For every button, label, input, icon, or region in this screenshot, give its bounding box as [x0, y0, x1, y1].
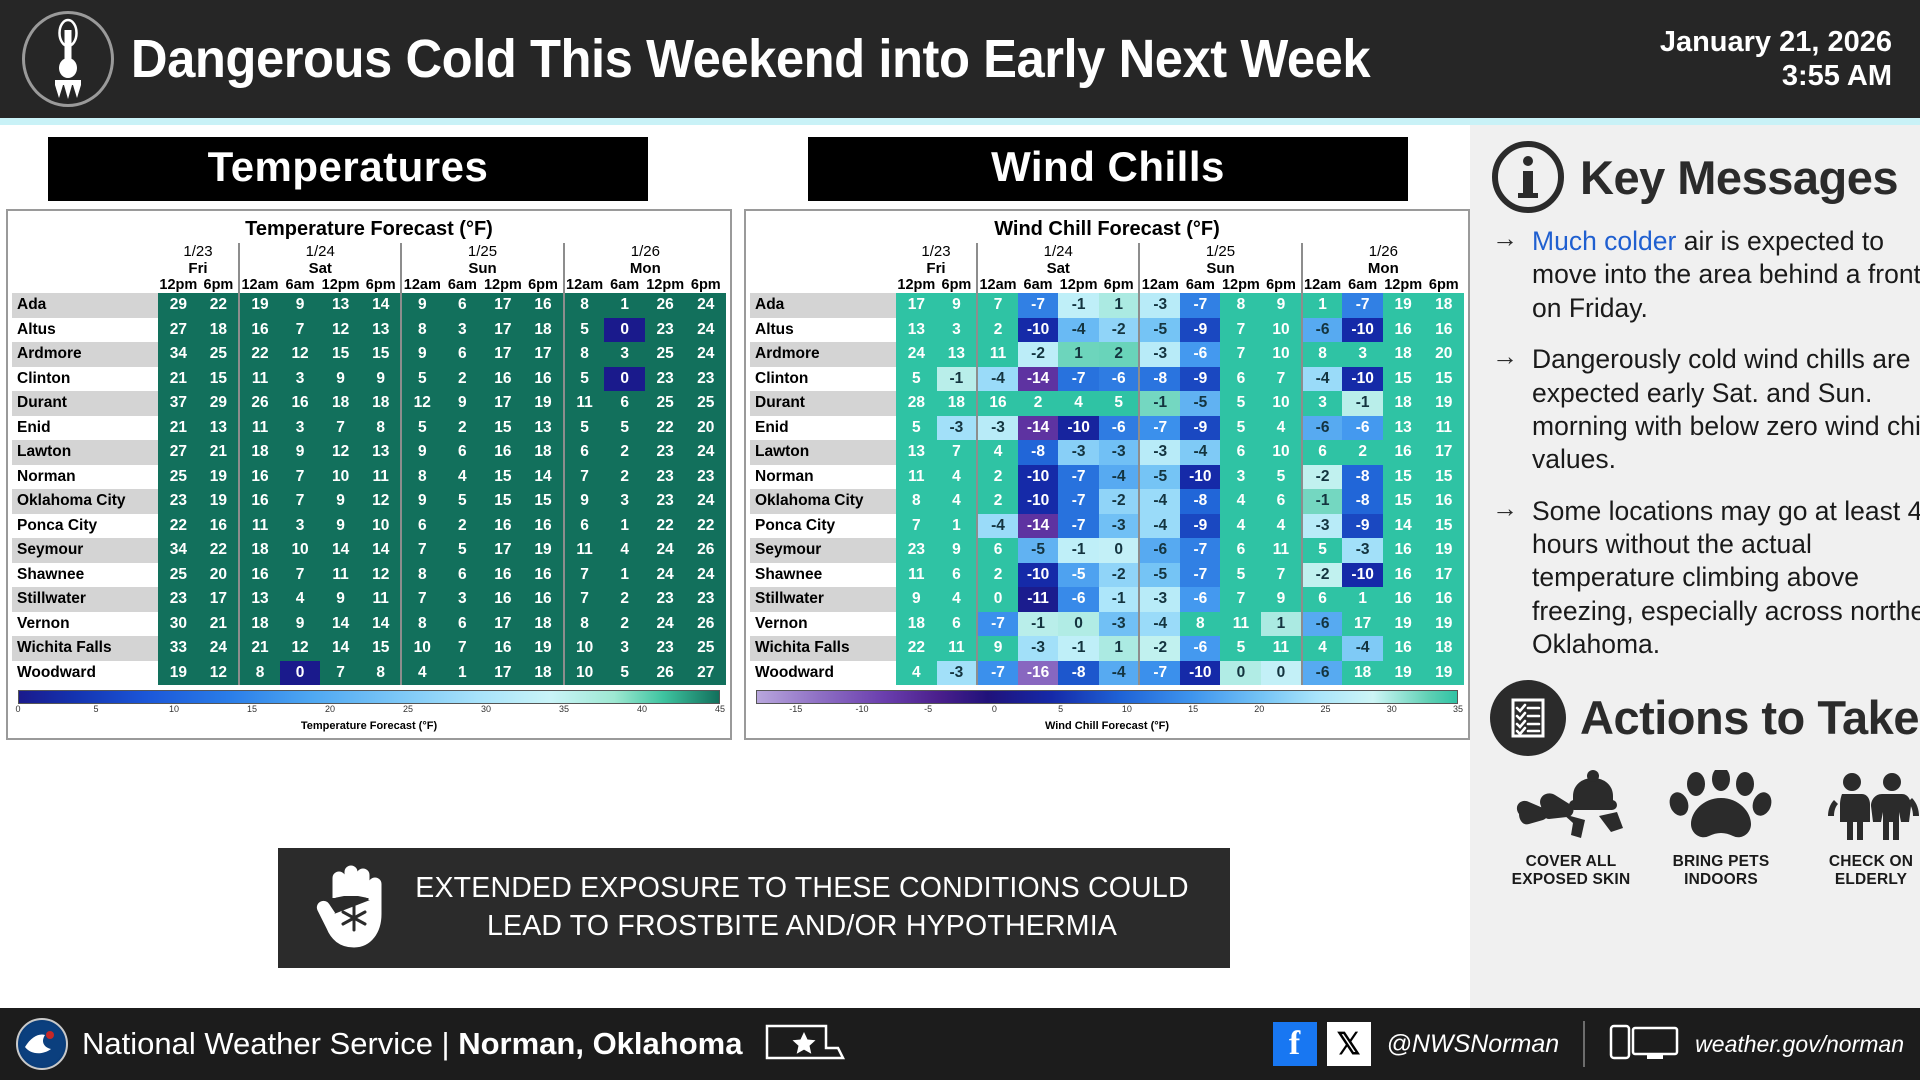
forecast-cell: 18	[361, 391, 401, 416]
forecast-cell: 24	[686, 489, 726, 514]
forecast-cell: 11	[1220, 612, 1261, 637]
callout-line-2: LEAD TO FROSTBITE AND/OR HYPOTHERMIA	[400, 908, 1204, 946]
forecast-cell: 23	[645, 440, 686, 465]
forecast-cell: -1	[1058, 538, 1099, 563]
forecast-cell: 24	[686, 293, 726, 318]
forecast-cell: 12	[280, 636, 320, 661]
forecast-cell: -5	[1058, 563, 1099, 588]
forecast-cell: 17	[1342, 612, 1382, 637]
forecast-cell: 6	[1220, 367, 1261, 392]
row-city-label: Oklahoma City	[12, 489, 158, 514]
forecast-cell: -2	[1302, 563, 1343, 588]
forecast-cell: -10	[1018, 489, 1058, 514]
header-date: January 21, 2026	[1660, 25, 1892, 59]
forecast-cell: 7	[320, 416, 361, 441]
forecast-cell: -1	[1302, 489, 1343, 514]
header-hour: 6pm	[361, 277, 401, 293]
header-hour: 6am	[1018, 277, 1058, 293]
row-city-label: Shawnee	[12, 563, 158, 588]
body-content: Temperatures Wind Chills Temperature For…	[0, 125, 1920, 1008]
forecast-cell: -2	[1099, 318, 1139, 343]
forecast-cell: 16	[1383, 318, 1424, 343]
forecast-cell: -5	[1180, 391, 1220, 416]
forecast-cell: -7	[1180, 293, 1220, 318]
row-city-label: Ponca City	[12, 514, 158, 539]
forecast-cell: 7	[1220, 318, 1261, 343]
forecast-cell: 0	[604, 318, 644, 343]
forecast-cell: 16	[239, 489, 280, 514]
forecast-cell: 19	[523, 391, 563, 416]
forecast-cell: 6	[564, 440, 605, 465]
forecast-cell: 7	[977, 293, 1018, 318]
forecast-cell: -7	[1058, 465, 1099, 490]
forecast-cell: 8	[1180, 612, 1220, 637]
forecast-cell: 7	[937, 440, 977, 465]
table-row: Shawnee25201671112861616712424	[12, 563, 726, 588]
forecast-cell: 15	[482, 489, 523, 514]
forecast-cell: 8	[361, 661, 401, 686]
forecast-cell: 25	[645, 391, 686, 416]
row-city-label: Oklahoma City	[750, 489, 896, 514]
forecast-cell: -7	[1180, 563, 1220, 588]
forecast-cell: 1	[1099, 293, 1139, 318]
forecast-cell: 1	[937, 514, 977, 539]
forecast-cell: 22	[239, 342, 280, 367]
header-hour: 12pm	[482, 277, 523, 293]
table-row: Wichita Falls22119-3-11-2-65114-41618	[750, 636, 1464, 661]
forecast-cell: 9	[937, 538, 977, 563]
forecast-cell: 19	[1383, 661, 1424, 686]
table-row: Ponca City71-4-14-7-3-4-944-3-91415	[750, 514, 1464, 539]
forecast-cell: 4	[442, 465, 482, 490]
forecast-cell: 23	[686, 367, 726, 392]
forecast-tables-panel: Temperatures Wind Chills Temperature For…	[0, 125, 1470, 1008]
elderly-couple-icon	[1816, 770, 1920, 842]
forecast-cell: 24	[686, 440, 726, 465]
forecast-cell: -1	[1342, 391, 1382, 416]
forecast-cell: 21	[158, 416, 199, 441]
action-label-line2: INDOORS	[1646, 871, 1796, 890]
forecast-cell: 9	[401, 342, 442, 367]
forecast-cell: 5	[604, 661, 644, 686]
colorbar-tick: 35	[559, 704, 569, 714]
forecast-cell: 34	[158, 342, 199, 367]
header-hour: 12am	[401, 277, 442, 293]
forecast-cell: -4	[1302, 367, 1343, 392]
forecast-cell: -9	[1342, 514, 1382, 539]
forecast-cell: 1	[442, 661, 482, 686]
forecast-cell: 10	[1261, 440, 1301, 465]
forecast-cell: -10	[1342, 367, 1382, 392]
table-row: Altus27181671213831718502324	[12, 318, 726, 343]
forecast-cell: -7	[977, 612, 1018, 637]
header-time: 3:55 AM	[1660, 59, 1892, 93]
forecast-cell: 2	[442, 416, 482, 441]
forecast-cell: 9	[401, 440, 442, 465]
forecast-cell: -9	[1180, 367, 1220, 392]
row-city-label: Lawton	[12, 440, 158, 465]
forecast-cell: 9	[320, 489, 361, 514]
table-row: Oklahoma City842-10-7-2-4-846-1-81516	[750, 489, 1464, 514]
action-bring-pets-label: BRING PETS INDOORS	[1646, 853, 1796, 890]
forecast-cell: 9	[401, 489, 442, 514]
table-row: Shawnee1162-10-5-2-5-757-2-101617	[750, 563, 1464, 588]
forecast-cell: 18	[1424, 293, 1464, 318]
forecast-cell: 1	[1058, 342, 1099, 367]
action-cover-skin: COVER ALL EXPOSED SKIN	[1496, 770, 1646, 890]
header-date: 1/24	[239, 243, 401, 260]
forecast-cell: 18	[523, 612, 563, 637]
forecast-cell: 24	[645, 538, 686, 563]
arrow-right-icon: →	[1492, 343, 1518, 477]
forecast-cell: 11	[1261, 636, 1301, 661]
forecast-cell: 22	[199, 293, 239, 318]
forecast-cell: 17	[482, 293, 523, 318]
forecast-cell: 9	[442, 391, 482, 416]
forecast-cell: 16	[239, 465, 280, 490]
header-date: 1/23	[158, 243, 239, 260]
forecast-cell: -6	[1302, 612, 1343, 637]
colorbar-tick: 40	[637, 704, 647, 714]
forecast-cell: 13	[361, 318, 401, 343]
forecast-cell: -4	[1139, 489, 1180, 514]
forecast-cell: 6	[937, 612, 977, 637]
forecast-cell: -6	[1099, 416, 1139, 441]
forecast-cell: 23	[686, 587, 726, 612]
forecast-cell: 2	[442, 367, 482, 392]
forecast-cell: 16	[977, 391, 1018, 416]
checklist-icon	[1490, 680, 1566, 756]
forecast-cell: 15	[523, 489, 563, 514]
header-date: 1/23	[896, 243, 977, 260]
windchill-table-card: Wind Chill Forecast (°F) 1/231/241/251/2…	[744, 209, 1470, 740]
forecast-cell: 5	[896, 367, 937, 392]
table-row: Durant281816245-1-55103-11819	[750, 391, 1464, 416]
forecast-cell: 19	[1383, 612, 1424, 637]
forecast-cell: 15	[1383, 489, 1424, 514]
colorbar-tick: 10	[1122, 704, 1132, 714]
forecast-cell: 24	[686, 563, 726, 588]
forecast-cell: 25	[686, 636, 726, 661]
table-header-hour-row: 12pm6pm12am6am12pm6pm12am6am12pm6pm12am6…	[12, 277, 726, 293]
forecast-cell: 24	[896, 342, 937, 367]
forecast-cell: 37	[158, 391, 199, 416]
forecast-cell: 27	[158, 440, 199, 465]
arrow-right-icon: →	[1492, 495, 1518, 662]
forecast-cell: 8	[361, 416, 401, 441]
forecast-cell: -6	[1302, 318, 1343, 343]
forecast-cell: 3	[280, 416, 320, 441]
forecast-cell: 4	[1302, 636, 1343, 661]
forecast-cell: 6	[401, 514, 442, 539]
forecast-cell: 15	[1383, 465, 1424, 490]
header-hour: 6am	[604, 277, 644, 293]
forecast-cell: 4	[1261, 416, 1301, 441]
action-bring-pets: BRING PETS INDOORS	[1646, 770, 1796, 890]
forecast-cell: 7	[564, 563, 605, 588]
forecast-cell: 16	[523, 563, 563, 588]
forecast-cell: -1	[937, 367, 977, 392]
forecast-cell: 2	[977, 489, 1018, 514]
forecast-cell: 16	[482, 440, 523, 465]
forecast-cell: 8	[239, 661, 280, 686]
forecast-cell: 0	[977, 587, 1018, 612]
forecast-cell: 23	[645, 318, 686, 343]
header-day: Sun	[1139, 260, 1301, 277]
forecast-cell: 1	[1099, 636, 1139, 661]
action-label-line1: COVER ALL	[1496, 853, 1646, 872]
table-row: Stillwater940-11-6-1-3-679611616	[750, 587, 1464, 612]
paw-prints-icon	[1666, 770, 1776, 842]
header-hour: 6pm	[1261, 277, 1301, 293]
forecast-cell: -9	[1180, 514, 1220, 539]
forecast-cell: 4	[896, 661, 937, 686]
forecast-cell: 7	[280, 465, 320, 490]
key-message-bullet: →Dangerously cold wind chills are expect…	[1492, 343, 1920, 477]
colorbar-tick: 30	[1387, 704, 1397, 714]
forecast-cell: 7	[1220, 342, 1261, 367]
row-city-label: Wichita Falls	[750, 636, 896, 661]
forecast-cell: 11	[320, 563, 361, 588]
forecast-cell: 16	[1383, 563, 1424, 588]
forecast-cell: 14	[361, 293, 401, 318]
forecast-cell: 17	[1424, 440, 1464, 465]
row-city-label: Ardmore	[750, 342, 896, 367]
header-hour: 6am	[1180, 277, 1220, 293]
forecast-cell: -1	[1099, 587, 1139, 612]
forecast-cell: 3	[604, 636, 644, 661]
table-row: Norman1142-10-7-4-5-1035-2-81515	[750, 465, 1464, 490]
forecast-cell: 26	[645, 293, 686, 318]
forecast-cell: 7	[280, 563, 320, 588]
forecast-cell: 1	[1342, 587, 1382, 612]
windchill-heatmap-table: 1/231/241/251/26FriSatSunMon12pm6pm12am6…	[750, 243, 1464, 685]
header-hour: 12pm	[1220, 277, 1261, 293]
row-city-label: Stillwater	[12, 587, 158, 612]
row-city-label: Ada	[12, 293, 158, 318]
forecast-cell: 34	[158, 538, 199, 563]
forecast-cell: 18	[239, 612, 280, 637]
forecast-cell: 0	[1058, 612, 1099, 637]
forecast-cell: 13	[320, 293, 361, 318]
forecast-cell: 3	[1302, 391, 1343, 416]
table-row: Ardmore342522121515961717832524	[12, 342, 726, 367]
forecast-cell: 3	[604, 342, 644, 367]
forecast-cell: 16	[1424, 318, 1464, 343]
forecast-cell: 2	[604, 465, 644, 490]
forecast-cell: -6	[1180, 342, 1220, 367]
table-row: Altus1332-10-4-2-5-9710-6-101616	[750, 318, 1464, 343]
header-hour: 6pm	[1424, 277, 1464, 293]
forecast-cell: 20	[1424, 342, 1464, 367]
forecast-cell: 29	[199, 391, 239, 416]
header-hour: 12pm	[896, 277, 937, 293]
footer-bar: National Weather Service | Norman, Oklah…	[0, 1008, 1920, 1080]
forecast-cell: 0	[1099, 538, 1139, 563]
forecast-cell: 19	[1424, 612, 1464, 637]
forecast-cell: 27	[686, 661, 726, 686]
forecast-cell: -7	[1018, 293, 1058, 318]
header-hour: 6pm	[937, 277, 977, 293]
forecast-cell: -8	[1018, 440, 1058, 465]
forecast-cell: -7	[1058, 514, 1099, 539]
forecast-cell: -1	[1058, 293, 1099, 318]
arrow-right-icon: →	[1492, 225, 1518, 325]
colorbar-tick: 20	[1254, 704, 1264, 714]
footer-agency-text: National Weather Service |	[82, 1026, 458, 1061]
forecast-cell: 7	[1261, 563, 1301, 588]
forecast-cell: 13	[239, 587, 280, 612]
forecast-cell: 33	[158, 636, 199, 661]
row-city-label: Durant	[750, 391, 896, 416]
forecast-cell: -10	[1342, 318, 1382, 343]
forecast-cell: 4	[1058, 391, 1099, 416]
forecast-cell: 22	[199, 538, 239, 563]
forecast-cell: -3	[937, 416, 977, 441]
table-row: Woodward4-3-7-16-8-4-7-1000-6181919	[750, 661, 1464, 686]
forecast-cell: 23	[645, 465, 686, 490]
table-row: Seymour2396-5-10-6-76115-31619	[750, 538, 1464, 563]
key-message-bullet: →Some locations may go at least 48 hours…	[1492, 495, 1920, 662]
forecast-cell: 0	[1261, 661, 1301, 686]
forecast-cell: 6	[442, 342, 482, 367]
forecast-cell: 24	[645, 563, 686, 588]
table-row: Lawton1374-8-3-3-3-4610621617	[750, 440, 1464, 465]
forecast-cell: -1	[1018, 612, 1058, 637]
table-row: Seymour3422181014147517191142426	[12, 538, 726, 563]
forecast-cell: 23	[645, 636, 686, 661]
colorbar-tick: 25	[1321, 704, 1331, 714]
forecast-cell: 4	[937, 465, 977, 490]
forecast-cell: 15	[482, 465, 523, 490]
forecast-cell: 8	[401, 318, 442, 343]
forecast-cell: 19	[158, 661, 199, 686]
forecast-cell: 18	[523, 318, 563, 343]
forecast-cell: 13	[896, 440, 937, 465]
forecast-cell: 20	[686, 416, 726, 441]
forecast-cell: 6	[1261, 489, 1301, 514]
forecast-cell: 18	[896, 612, 937, 637]
forecast-cell: -6	[1139, 538, 1180, 563]
forecast-cell: 4	[977, 440, 1018, 465]
forecast-cell: -10	[1018, 318, 1058, 343]
forecast-cell: 19	[1424, 538, 1464, 563]
forecast-cell: -3	[1058, 440, 1099, 465]
forecast-cell: 28	[896, 391, 937, 416]
nws-seal-icon	[16, 1018, 68, 1070]
forecast-cell: 23	[158, 587, 199, 612]
forecast-cell: -7	[977, 661, 1018, 686]
forecast-cell: 22	[645, 416, 686, 441]
social-handle: @NWSNorman	[1387, 1030, 1560, 1059]
table-header-date-row: 1/231/241/251/26	[12, 243, 726, 260]
forecast-cell: -4	[977, 367, 1018, 392]
forecast-cell: 3	[937, 318, 977, 343]
header-date: 1/24	[977, 243, 1139, 260]
actions-icons-row: COVER ALL EXPOSED SKIN BRING PETS	[1490, 766, 1920, 890]
x-twitter-icon[interactable]: 𝕏	[1327, 1022, 1371, 1066]
forecast-cell: -3	[1099, 612, 1139, 637]
forecast-cell: 11	[1261, 538, 1301, 563]
forecast-cell: -9	[1180, 318, 1220, 343]
forecast-cell: -14	[1018, 514, 1058, 539]
forecast-cell: -10	[1018, 563, 1058, 588]
table-row: Wichita Falls33242112141510716191032325	[12, 636, 726, 661]
forecast-cell: 1	[604, 514, 644, 539]
forecast-cell: 25	[158, 563, 199, 588]
forecast-cell: 21	[199, 612, 239, 637]
forecast-cell: 25	[199, 342, 239, 367]
table-row: Ada29221991314961716812624	[12, 293, 726, 318]
table-row: Enid211311378521513552220	[12, 416, 726, 441]
forecast-cell: 5	[564, 416, 605, 441]
forecast-cell: 24	[645, 612, 686, 637]
colorbar-tick: -15	[789, 704, 802, 714]
forecast-cell: -3	[1099, 440, 1139, 465]
header-date: 1/26	[1302, 243, 1464, 260]
forecast-cell: 19	[523, 538, 563, 563]
forecast-cell: 18	[239, 538, 280, 563]
actions-header: Actions to Take	[1490, 680, 1920, 756]
colorbar-tick: 45	[715, 704, 725, 714]
forecast-cell: 10	[280, 538, 320, 563]
forecast-cell: 3	[280, 367, 320, 392]
temperature-colorbar-gradient	[18, 690, 720, 704]
forecast-cell: 13	[199, 416, 239, 441]
forecast-cell: 11	[564, 538, 605, 563]
forecast-cell: 13	[361, 440, 401, 465]
forecast-cell: -1	[1139, 391, 1180, 416]
forecast-cell: 9	[564, 489, 605, 514]
forecast-cell: 7	[401, 587, 442, 612]
accent-divider	[0, 118, 1920, 125]
forecast-cell: -5	[1139, 465, 1180, 490]
forecast-cell: 11	[239, 416, 280, 441]
forecast-cell: 7	[280, 318, 320, 343]
forecast-cell: -2	[1099, 563, 1139, 588]
row-city-label: Altus	[12, 318, 158, 343]
thermometer-icon	[22, 11, 114, 107]
forecast-cell: 15	[320, 342, 361, 367]
forecast-cell: 9	[401, 293, 442, 318]
forecast-cell: 16	[482, 636, 523, 661]
forecast-cell: 25	[686, 391, 726, 416]
forecast-cell: 12	[361, 563, 401, 588]
key-messages-list: →Much colder air is expected to move int…	[1490, 221, 1920, 662]
forecast-cell: 4	[1220, 489, 1261, 514]
action-label-line1: BRING PETS	[1646, 853, 1796, 872]
forecast-cell: 18	[1342, 661, 1382, 686]
forecast-cell: 8	[401, 612, 442, 637]
table-header-hour-row: 12pm6pm12am6am12pm6pm12am6am12pm6pm12am6…	[750, 277, 1464, 293]
colorbar-tick: 5	[93, 704, 98, 714]
bullet-text: Some locations may go at least 48 hours …	[1532, 495, 1920, 662]
header-date: 1/25	[1139, 243, 1301, 260]
facebook-icon[interactable]: f	[1273, 1022, 1317, 1066]
forecast-cell: 5	[442, 489, 482, 514]
windchill-colorbar-gradient	[756, 690, 1458, 704]
forecast-cell: -7	[1058, 489, 1099, 514]
header-hour: 12pm	[645, 277, 686, 293]
forecast-cell: 4	[1261, 514, 1301, 539]
forecast-cell: 2	[604, 587, 644, 612]
header-hour: 6pm	[199, 277, 239, 293]
forecast-cell: 16	[523, 587, 563, 612]
table-row: Enid5-3-3-14-10-6-7-954-6-61311	[750, 416, 1464, 441]
header-date: 1/26	[564, 243, 726, 260]
forecast-cell: -3	[977, 416, 1018, 441]
forecast-cell: 6	[1302, 587, 1343, 612]
